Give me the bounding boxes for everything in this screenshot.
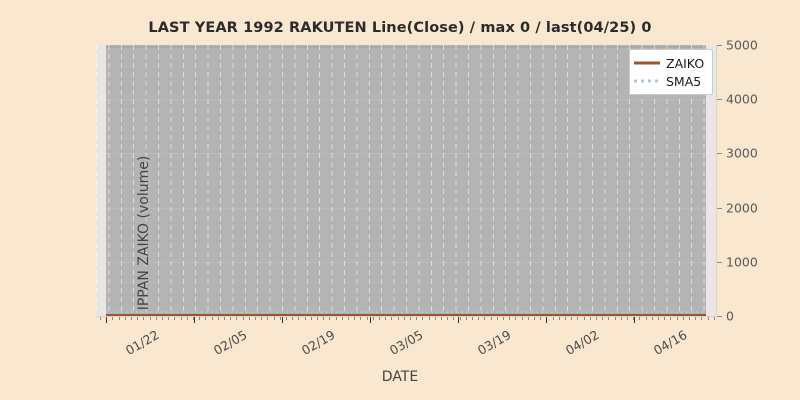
y-axis-tick xyxy=(717,45,722,46)
x-axis-minor-tick xyxy=(187,317,188,320)
x-axis-minor-tick xyxy=(478,317,479,320)
x-axis-minor-tick xyxy=(602,317,603,320)
x-axis-minor-tick xyxy=(137,317,138,320)
x-axis-minor-tick xyxy=(416,317,417,320)
x-axis-minor-tick xyxy=(528,317,529,320)
x-axis-minor-tick xyxy=(168,317,169,320)
x-axis-minor-tick xyxy=(435,317,436,320)
x-axis-minor-tick xyxy=(255,317,256,320)
y-axis-tick-label: 0 xyxy=(726,309,734,324)
x-axis-minor-tick xyxy=(342,317,343,320)
x-axis-minor-tick xyxy=(664,317,665,320)
x-axis-minor-tick xyxy=(621,317,622,320)
x-axis-minor-tick xyxy=(708,317,709,320)
x-axis-minor-tick xyxy=(280,317,281,320)
x-axis-minor-tick xyxy=(236,317,237,320)
x-axis-major-tick xyxy=(194,317,195,323)
y-axis-tick xyxy=(717,262,722,263)
x-axis-minor-tick xyxy=(565,317,566,320)
x-axis-spine xyxy=(96,316,717,317)
y-axis-label: IPPAN ZAIKO (volume) xyxy=(136,133,152,316)
y-axis-tick-label: 4000 xyxy=(726,92,758,107)
y-axis-tick-label: 1000 xyxy=(726,254,758,269)
x-axis-minor-tick xyxy=(119,317,120,320)
x-axis-tick-label: 03/19 xyxy=(475,327,514,358)
x-axis-minor-tick xyxy=(249,317,250,320)
x-axis-label: DATE xyxy=(0,369,800,385)
x-axis-minor-tick xyxy=(646,317,647,320)
x-axis-minor-tick xyxy=(627,317,628,320)
x-axis-minor-tick xyxy=(112,317,113,320)
x-axis-minor-tick xyxy=(398,317,399,320)
x-axis-minor-tick xyxy=(404,317,405,320)
y-axis-tick-label: 3000 xyxy=(726,146,758,161)
y-axis-spine xyxy=(716,45,717,317)
x-axis-minor-tick xyxy=(174,317,175,320)
x-axis-minor-tick xyxy=(491,317,492,320)
x-axis-minor-tick xyxy=(292,317,293,320)
legend-item-zaiko: ZAIKO xyxy=(634,54,707,72)
x-axis-minor-tick xyxy=(658,317,659,320)
x-axis-minor-tick xyxy=(522,317,523,320)
y-axis-tick xyxy=(717,316,722,317)
x-axis-minor-tick xyxy=(329,317,330,320)
chart-figure: LAST YEAR 1992 RAKUTEN Line(Close) / max… xyxy=(0,0,800,400)
x-axis-minor-tick xyxy=(354,317,355,320)
x-axis-tick-label: 01/22 xyxy=(123,327,162,358)
x-axis-tick-label: 04/02 xyxy=(563,327,602,358)
x-axis-minor-tick xyxy=(615,317,616,320)
x-axis-minor-tick xyxy=(385,317,386,320)
x-axis-minor-tick xyxy=(162,317,163,320)
x-axis-minor-tick xyxy=(274,317,275,320)
x-axis-minor-tick xyxy=(596,317,597,320)
x-axis-minor-tick xyxy=(243,317,244,320)
x-axis-tick-label: 02/19 xyxy=(299,327,338,358)
x-axis-minor-tick xyxy=(652,317,653,320)
x-axis-minor-tick xyxy=(453,317,454,320)
x-axis-major-tick xyxy=(370,317,371,323)
x-axis-major-tick xyxy=(282,317,283,323)
x-axis-minor-tick xyxy=(577,317,578,320)
legend-swatch-zaiko xyxy=(634,57,660,69)
x-axis-minor-tick xyxy=(267,317,268,320)
x-axis-minor-tick xyxy=(348,317,349,320)
x-axis-minor-tick xyxy=(503,317,504,320)
x-axis-minor-tick xyxy=(379,317,380,320)
x-axis-minor-tick xyxy=(156,317,157,320)
x-axis-minor-tick xyxy=(540,317,541,320)
x-axis-minor-tick xyxy=(701,317,702,320)
x-axis-minor-tick xyxy=(391,317,392,320)
legend-item-sma5: SMA5 xyxy=(634,72,707,90)
x-axis-minor-tick xyxy=(143,317,144,320)
x-axis-minor-tick xyxy=(670,317,671,320)
x-axis-minor-tick xyxy=(199,317,200,320)
y-axis-tick-label: 5000 xyxy=(726,38,758,53)
x-axis-major-tick xyxy=(634,317,635,323)
x-axis-minor-tick xyxy=(218,317,219,320)
x-axis-minor-tick xyxy=(230,317,231,320)
x-axis-minor-tick xyxy=(466,317,467,320)
x-axis-minor-tick xyxy=(639,317,640,320)
x-axis-tick-label: 04/16 xyxy=(651,327,690,358)
x-axis-minor-tick xyxy=(298,317,299,320)
x-axis-tick-label: 02/05 xyxy=(211,327,250,358)
x-axis-minor-tick xyxy=(683,317,684,320)
series-layer xyxy=(96,45,716,316)
x-axis-minor-tick xyxy=(460,317,461,320)
x-axis-minor-tick xyxy=(584,317,585,320)
x-axis-minor-tick xyxy=(497,317,498,320)
x-axis-minor-tick xyxy=(261,317,262,320)
x-axis-minor-tick xyxy=(305,317,306,320)
x-axis-minor-tick xyxy=(429,317,430,320)
y-axis-tick xyxy=(717,153,722,154)
y-axis-tick xyxy=(717,99,722,100)
x-axis-minor-tick xyxy=(472,317,473,320)
chart-legend: ZAIKO SMA5 xyxy=(629,49,713,95)
x-axis-minor-tick xyxy=(422,317,423,320)
x-axis-minor-tick xyxy=(553,317,554,320)
x-axis-minor-tick xyxy=(360,317,361,320)
x-axis-minor-tick xyxy=(590,317,591,320)
x-axis-minor-tick xyxy=(373,317,374,320)
plot-area: IPPAN ZAIKO (volume) xyxy=(96,45,716,316)
y-axis-tick xyxy=(717,208,722,209)
x-axis-minor-tick xyxy=(323,317,324,320)
x-axis-major-tick xyxy=(106,317,107,323)
x-axis-minor-tick xyxy=(150,317,151,320)
x-axis-minor-tick xyxy=(608,317,609,320)
x-axis-major-tick xyxy=(458,317,459,323)
x-axis-minor-tick xyxy=(311,317,312,320)
x-axis-minor-tick xyxy=(441,317,442,320)
x-axis-minor-tick xyxy=(515,317,516,320)
x-axis-minor-tick xyxy=(571,317,572,320)
x-axis-minor-tick xyxy=(131,317,132,320)
x-axis-minor-tick xyxy=(181,317,182,320)
legend-label-zaiko: ZAIKO xyxy=(666,56,704,71)
chart-title: LAST YEAR 1992 RAKUTEN Line(Close) / max… xyxy=(0,20,800,36)
x-axis-minor-tick xyxy=(689,317,690,320)
x-axis-minor-tick xyxy=(677,317,678,320)
x-axis-minor-tick xyxy=(484,317,485,320)
x-axis-minor-tick xyxy=(410,317,411,320)
x-axis-minor-tick xyxy=(224,317,225,320)
x-axis-minor-tick xyxy=(212,317,213,320)
x-axis-minor-tick xyxy=(100,317,101,320)
x-axis-minor-tick xyxy=(509,317,510,320)
x-axis-minor-tick xyxy=(205,317,206,320)
legend-swatch-sma5 xyxy=(634,75,660,87)
x-axis-minor-tick xyxy=(695,317,696,320)
legend-label-sma5: SMA5 xyxy=(666,74,701,89)
x-axis-major-tick xyxy=(546,317,547,323)
y-axis-tick-label: 2000 xyxy=(726,200,758,215)
x-axis-minor-tick xyxy=(367,317,368,320)
x-axis-minor-tick xyxy=(125,317,126,320)
x-axis-minor-tick xyxy=(317,317,318,320)
x-axis-minor-tick xyxy=(534,317,535,320)
series-line-sma5 xyxy=(106,311,706,313)
x-axis-minor-tick xyxy=(714,317,715,320)
x-axis-tick-label: 03/05 xyxy=(387,327,426,358)
x-axis-minor-tick xyxy=(447,317,448,320)
x-axis-minor-tick xyxy=(286,317,287,320)
x-axis-minor-tick xyxy=(336,317,337,320)
x-axis-minor-tick xyxy=(559,317,560,320)
